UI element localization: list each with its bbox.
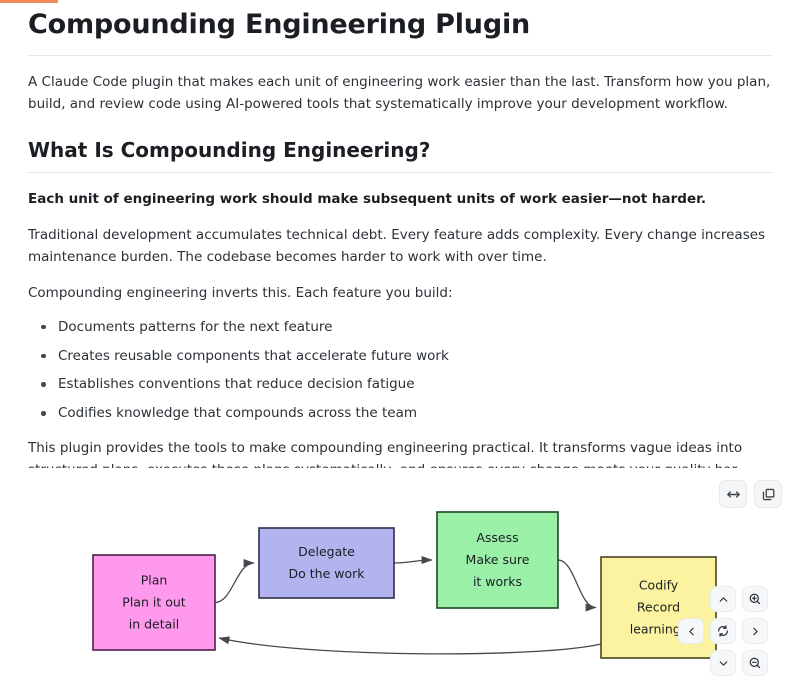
flowchart-nodes: PlanPlan it outin detailDelegateDo the w… (93, 512, 716, 658)
list-item: Codifies knowledge that compounds across… (58, 403, 772, 424)
node-label: Do the work (289, 566, 366, 581)
intro-paragraph: A Claude Code plugin that makes each uni… (28, 72, 772, 116)
pan-up-button[interactable] (710, 586, 736, 612)
diagram-toolbar (719, 480, 782, 508)
section-title: What Is Compounding Engineering? (28, 137, 772, 173)
benefits-list: Documents patterns for the next feature … (28, 317, 772, 425)
bold-statement: Each unit of engineering work should mak… (28, 189, 772, 211)
flowchart-edge (558, 560, 596, 608)
list-item: Establishes conventions that reduce deci… (58, 374, 772, 395)
node-label: Assess (476, 530, 518, 545)
chevron-up-icon (717, 593, 730, 606)
flowchart-edge (219, 638, 601, 654)
refresh-icon (716, 624, 730, 638)
zoom-in-button[interactable] (742, 586, 768, 612)
node-label: Plan (141, 573, 168, 588)
pan-left-button[interactable] (678, 618, 704, 644)
workflow-diagram-panel[interactable]: PlanPlan it outin detailDelegateDo the w… (0, 468, 800, 699)
copy-icon (761, 487, 776, 502)
node-label: in detail (129, 617, 180, 632)
diagram-nav-controls (678, 586, 782, 686)
node-shape (259, 528, 394, 598)
node-label: it works (473, 574, 522, 589)
flowchart-edge (394, 560, 432, 563)
chevron-right-icon (749, 625, 762, 638)
flowchart-node-assess[interactable]: AssessMake sureit works (437, 512, 558, 608)
magnifier-plus-icon (748, 592, 762, 606)
page-title: Compounding Engineering Plugin (28, 8, 772, 56)
resize-horizontal-button[interactable] (719, 480, 747, 508)
paragraph-technical-debt: Traditional development accumulates tech… (28, 225, 772, 269)
paragraph-inverts: Compounding engineering inverts this. Ea… (28, 283, 772, 305)
pan-down-button[interactable] (710, 650, 736, 676)
zoom-out-button[interactable] (742, 650, 768, 676)
pan-right-button[interactable] (742, 618, 768, 644)
chevron-down-icon (717, 657, 730, 670)
magnifier-minus-icon (748, 656, 762, 670)
node-label: Plan it out (122, 595, 185, 610)
list-item: Creates reusable components that acceler… (58, 346, 772, 367)
chevron-left-icon (685, 625, 698, 638)
node-label: Codify (639, 578, 679, 593)
flowchart-node-delegate[interactable]: DelegateDo the work (259, 528, 394, 598)
reset-view-button[interactable] (710, 618, 736, 644)
flowchart-node-plan[interactable]: PlanPlan it outin detail (93, 555, 215, 650)
list-item: Documents patterns for the next feature (58, 317, 772, 338)
node-label: Record (637, 600, 680, 615)
flowchart-edge (215, 563, 254, 603)
arrows-horizontal-icon (726, 487, 741, 502)
copy-button[interactable] (754, 480, 782, 508)
node-label: Delegate (298, 544, 355, 559)
node-label: Make sure (466, 552, 530, 567)
